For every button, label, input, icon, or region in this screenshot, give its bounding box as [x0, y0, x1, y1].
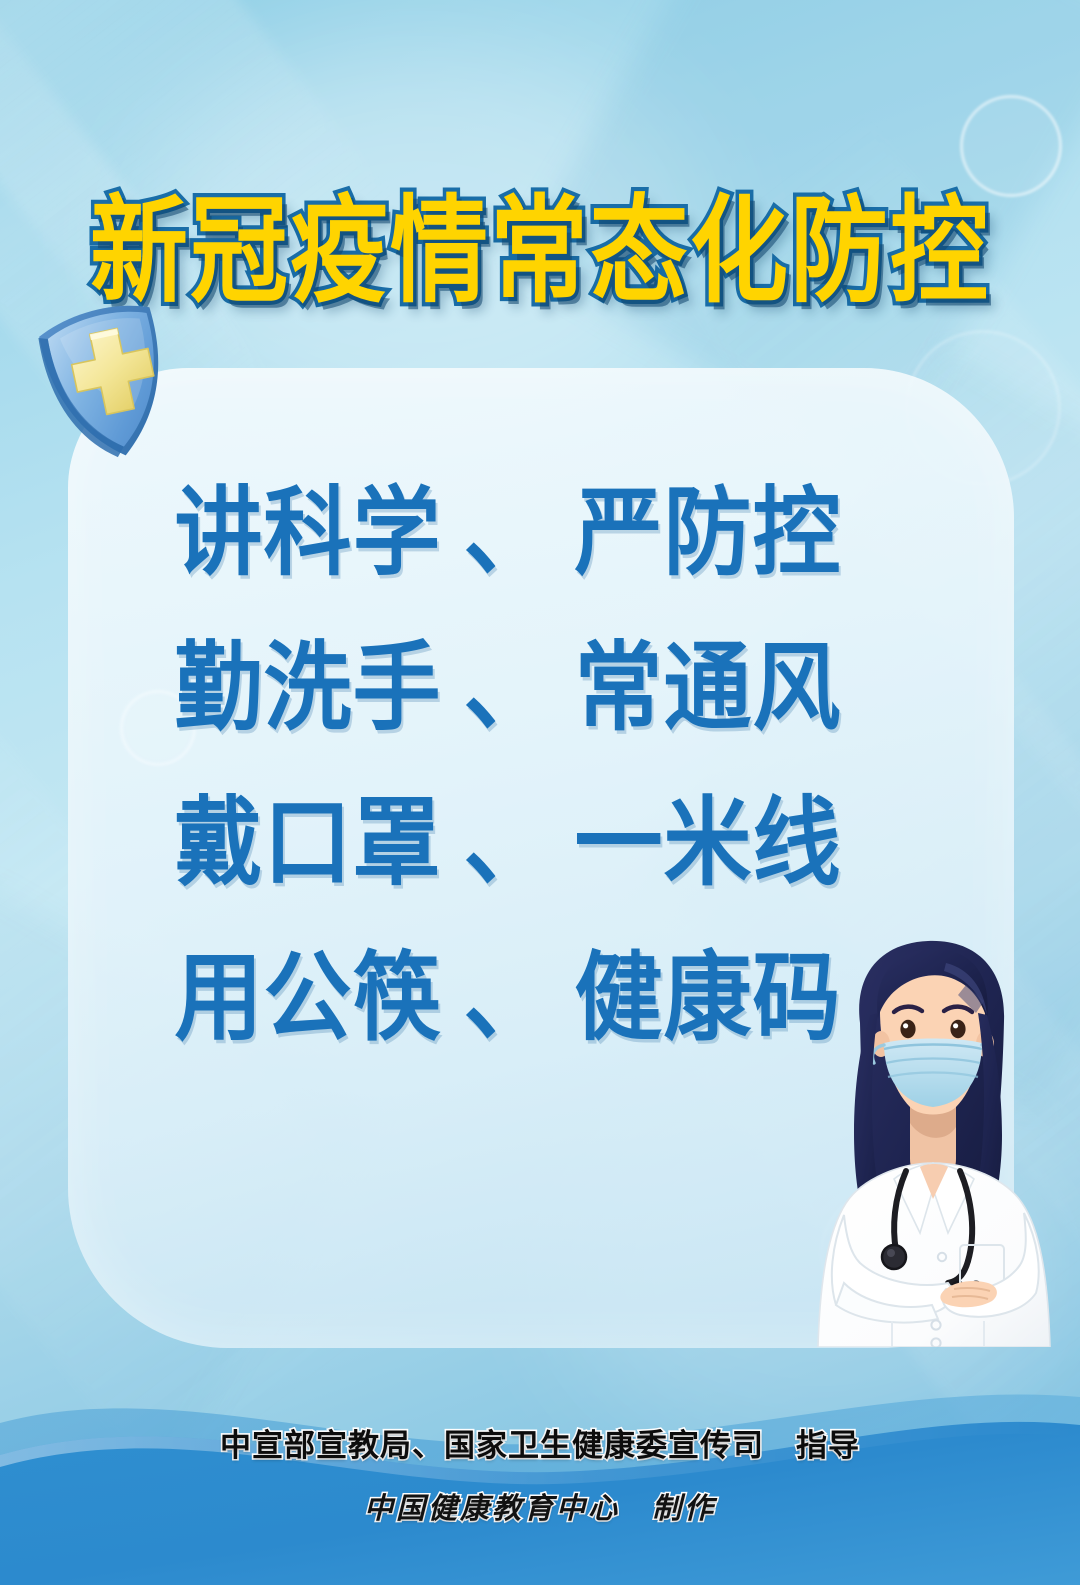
- slogan-separator: 、: [463, 476, 552, 589]
- slogan-right: 常通风: [575, 631, 842, 744]
- slogan-right: 一米线: [575, 786, 842, 899]
- bubble-icon: [960, 95, 1062, 197]
- footer-producer-line: 中国健康教育中心 制作: [0, 1485, 1080, 1527]
- slogan-left: 勤洗手: [174, 631, 441, 744]
- slogan-separator: 、: [463, 786, 552, 899]
- slogan-left: 戴口罩: [174, 786, 441, 899]
- slogan-line: 勤洗手、常通风: [68, 602, 948, 773]
- slogan-separator: 、: [463, 941, 552, 1054]
- slogan-separator: 、: [463, 631, 552, 744]
- footer: 中宣部宣教局、国家卫生健康委宣传司 指导 中国健康教育中心 制作: [0, 1420, 1080, 1527]
- page-title: 新冠疫情常态化防控: [90, 192, 990, 315]
- footer-guidance-line: 中宣部宣教局、国家卫生健康委宣传司 指导: [0, 1420, 1080, 1465]
- slogan-line: 讲科学、严防控: [68, 447, 948, 618]
- slogan-left: 讲科学: [174, 476, 441, 589]
- poster-root: 新冠疫情常态化防控 讲科学、严防控 勤洗手、常通风 戴口罩、一米线 用公筷、健康…: [0, 0, 1080, 1585]
- slogan-line: 戴口罩、一米线: [68, 757, 948, 928]
- slogan-right: 严防控: [575, 476, 842, 589]
- slogan-left: 用公筷: [174, 941, 441, 1054]
- doctor-with-mask-illustration: [788, 927, 1074, 1347]
